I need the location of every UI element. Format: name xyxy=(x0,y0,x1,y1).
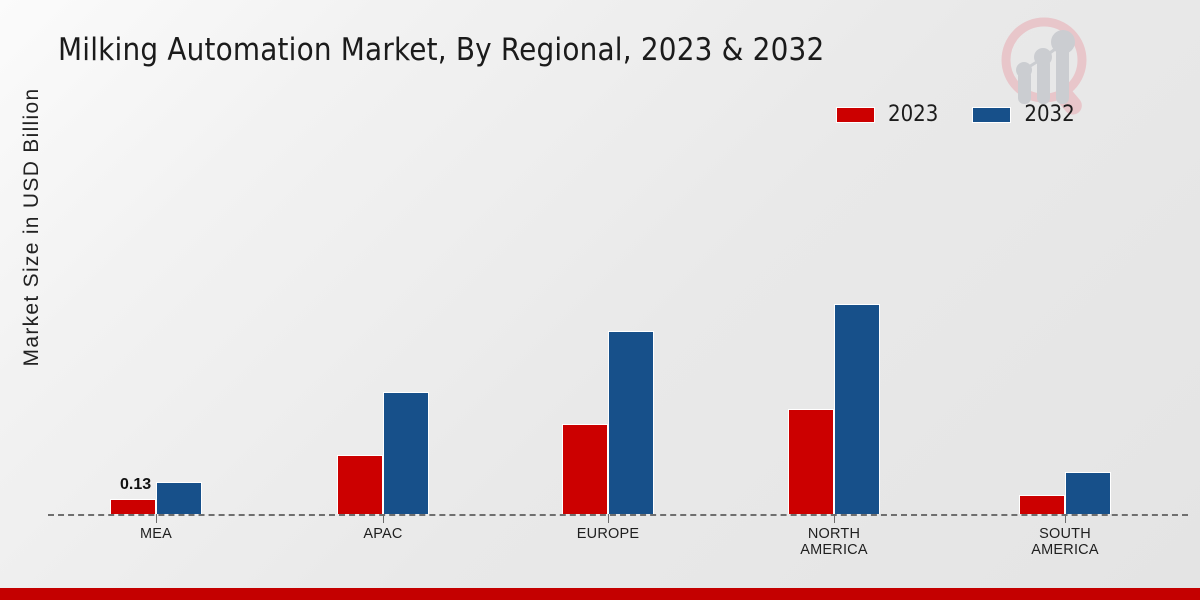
x-axis-label-line2: AMERICA xyxy=(970,542,1160,558)
bar-value-mea-2023: 0.13 xyxy=(120,476,151,494)
bar-apac-2023[interactable] xyxy=(337,455,383,514)
chart-legend: 2023 2032 xyxy=(836,104,1075,126)
x-axis-label-europe: EUROPE xyxy=(513,526,703,542)
legend-swatch-2032 xyxy=(972,107,1011,123)
x-axis-label-apac: APAC xyxy=(288,526,478,542)
x-axis-label-line1: EUROPE xyxy=(513,526,703,542)
x-axis-tick-south-america xyxy=(1065,514,1066,523)
plot-area: 0.13 MEA APAC EUROPE xyxy=(48,140,1188,516)
legend-item-2023[interactable]: 2023 xyxy=(836,104,938,126)
bar-group-bars xyxy=(788,140,880,514)
legend-item-2032[interactable]: 2032 xyxy=(972,104,1074,126)
bar-south-america-2023[interactable] xyxy=(1019,495,1065,514)
x-axis-label-mea: MEA xyxy=(61,526,251,542)
bar-europe-2032[interactable] xyxy=(608,331,654,514)
bar-mea-2032[interactable] xyxy=(156,482,202,514)
x-axis-label-south-america: SOUTH AMERICA xyxy=(970,526,1160,558)
bar-group-bars xyxy=(110,140,202,514)
x-axis-label-line1: APAC xyxy=(288,526,478,542)
x-axis-label-line2: AMERICA xyxy=(739,542,929,558)
bar-mea-2023[interactable] xyxy=(110,499,156,514)
x-axis-label-line1: SOUTH xyxy=(970,526,1160,542)
bar-group-bars xyxy=(337,140,429,514)
x-axis-tick-north-america xyxy=(834,514,835,523)
x-axis-tick-mea xyxy=(156,514,157,523)
bar-group-bars xyxy=(562,140,654,514)
bar-apac-2032[interactable] xyxy=(383,392,429,514)
x-axis-label-line1: NORTH xyxy=(739,526,929,542)
bar-group-bars xyxy=(1019,140,1111,514)
legend-label-2023: 2023 xyxy=(888,104,938,126)
x-axis-tick-apac xyxy=(383,514,384,523)
x-axis-label-north-america: NORTH AMERICA xyxy=(739,526,929,558)
bar-north-america-2032[interactable] xyxy=(834,304,880,514)
legend-swatch-2023 xyxy=(836,107,875,123)
y-axis-title: Market Size in USD Billion xyxy=(20,37,44,417)
x-axis-tick-europe xyxy=(608,514,609,523)
chart-title: Milking Automation Market, By Regional, … xyxy=(58,32,824,68)
footer-accent-bar xyxy=(0,588,1200,600)
x-axis-baseline xyxy=(48,514,1188,516)
x-axis-label-line1: MEA xyxy=(61,526,251,542)
bar-north-america-2023[interactable] xyxy=(788,409,834,514)
bar-south-america-2032[interactable] xyxy=(1065,472,1111,514)
legend-label-2032: 2032 xyxy=(1024,104,1074,126)
chart-container: Milking Automation Market, By Regional, … xyxy=(0,0,1200,600)
bar-europe-2023[interactable] xyxy=(562,424,608,514)
